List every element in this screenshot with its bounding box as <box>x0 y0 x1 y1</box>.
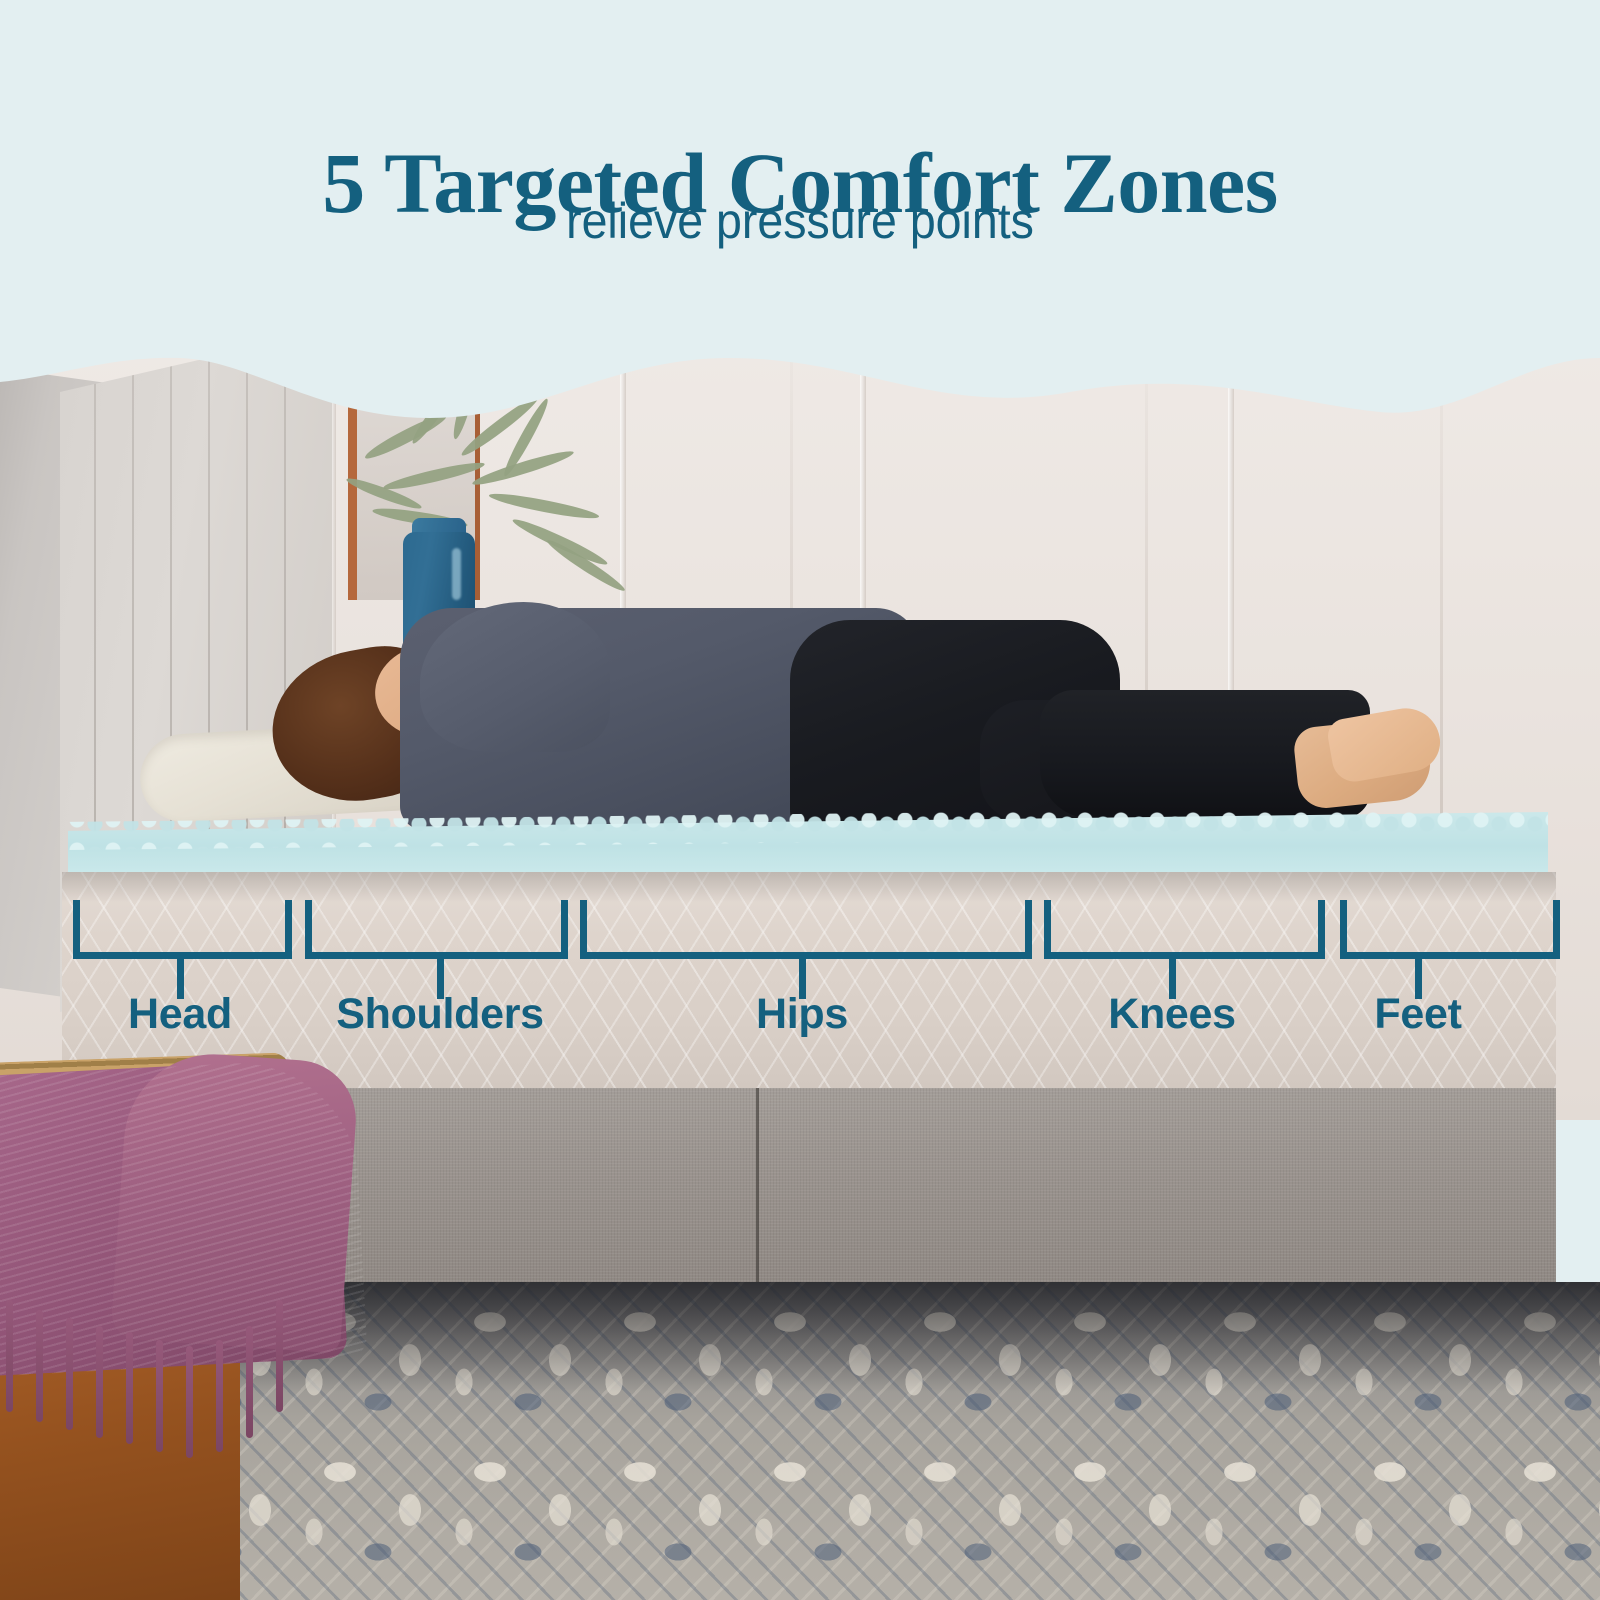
comfort-zone-brackets: HeadShouldersHipsKneesFeet <box>0 0 1600 1600</box>
zone-bracket-tick-end <box>1553 900 1560 959</box>
zone-bracket-tick-start <box>73 900 80 959</box>
zone-label-feet: Feet <box>1374 990 1461 1039</box>
zone-bracket-tick-end <box>1318 900 1325 959</box>
zone-bracket-line <box>305 952 568 959</box>
zone-bracket-tick-start <box>580 900 587 959</box>
zone-bracket-tick-start <box>1044 900 1051 959</box>
zone-bracket-tick-end <box>561 900 568 959</box>
zone-bracket-tick-end <box>1025 900 1032 959</box>
zone-bracket-tick-end <box>285 900 292 959</box>
zone-bracket-line <box>580 952 1032 959</box>
zone-label-knees: Knees <box>1108 990 1236 1039</box>
zone-label-head: Head <box>128 990 232 1039</box>
zone-bracket-line <box>1044 952 1325 959</box>
zone-bracket-line <box>1340 952 1560 959</box>
zone-label-hips: Hips <box>756 990 848 1039</box>
zone-bracket-tick-start <box>305 900 312 959</box>
zone-bracket-tick-start <box>1340 900 1347 959</box>
zone-bracket-line <box>73 952 292 959</box>
product-infographic: 5 Targeted Comfort Zones relieve pressur… <box>0 0 1600 1600</box>
zone-label-shoulders: Shoulders <box>336 990 544 1039</box>
